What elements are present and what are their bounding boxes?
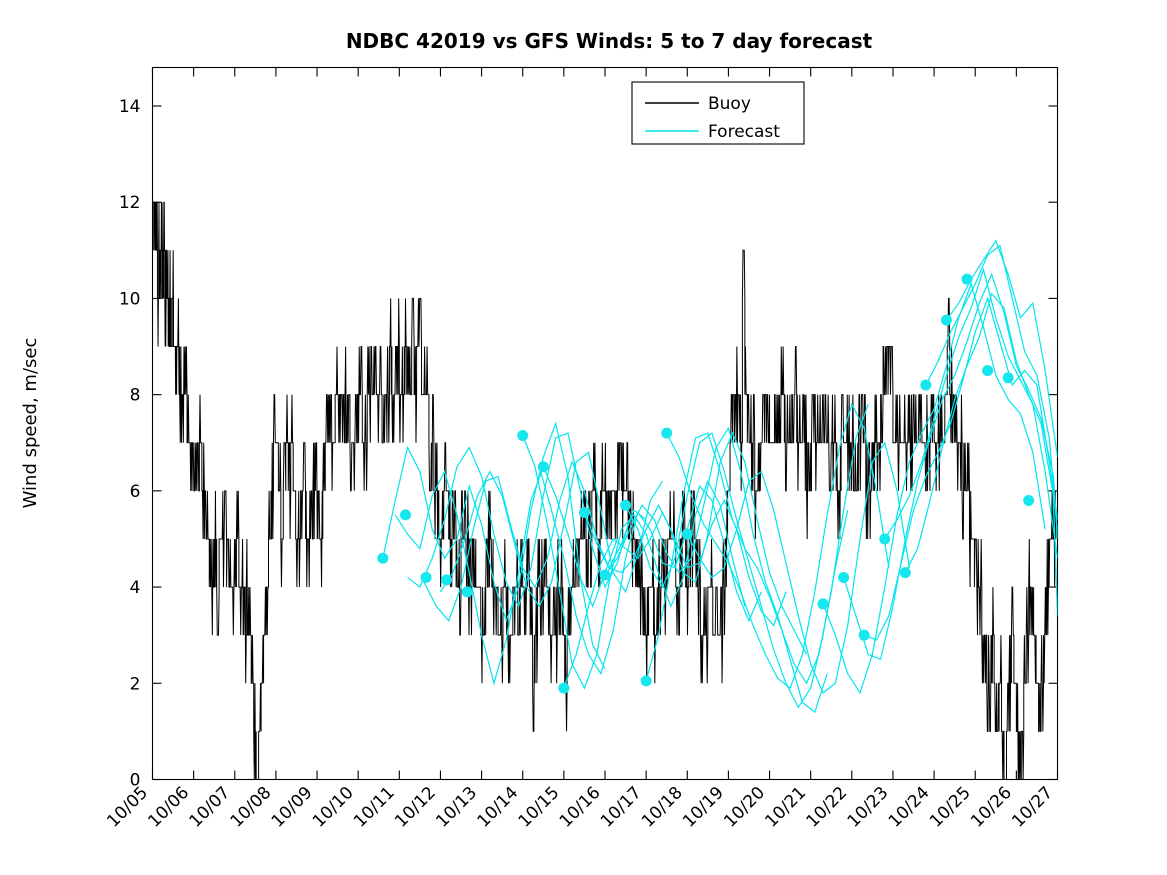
forecast-start-marker xyxy=(982,365,993,376)
forecast-start-marker xyxy=(441,574,452,585)
y-tick-label: 10 xyxy=(119,289,141,309)
forecast-start-marker xyxy=(818,598,829,609)
chart-background xyxy=(0,0,1167,875)
forecast-start-marker xyxy=(900,567,911,578)
forecast-start-marker xyxy=(859,630,870,641)
forecast-start-marker xyxy=(941,315,952,326)
chart-legend: BuoyForecast xyxy=(632,82,804,144)
forecast-start-marker xyxy=(962,274,973,285)
forecast-start-marker xyxy=(1023,495,1034,506)
forecast-start-marker xyxy=(377,553,388,564)
forecast-start-marker xyxy=(1003,372,1014,383)
chart-page: NDBC 42019 vs GFS Winds: 5 to 7 day fore… xyxy=(0,0,1167,875)
forecast-start-marker xyxy=(620,500,631,511)
forecast-start-marker xyxy=(661,428,672,439)
legend-label: Forecast xyxy=(708,122,780,142)
forecast-start-marker xyxy=(600,570,611,581)
forecast-start-marker xyxy=(838,572,849,583)
forecast-start-marker xyxy=(641,675,652,686)
forecast-start-marker xyxy=(682,529,693,540)
y-tick-label: 4 xyxy=(130,578,141,598)
forecast-start-marker xyxy=(462,586,473,597)
forecast-start-marker xyxy=(400,509,411,520)
wind-speed-chart: NDBC 42019 vs GFS Winds: 5 to 7 day fore… xyxy=(0,0,1167,875)
forecast-start-marker xyxy=(421,572,432,583)
y-tick-label: 8 xyxy=(130,386,141,406)
forecast-start-marker xyxy=(579,507,590,518)
y-axis-label: Wind speed, m/sec xyxy=(20,338,41,509)
chart-title: NDBC 42019 vs GFS Winds: 5 to 7 day fore… xyxy=(346,29,873,53)
forecast-start-marker xyxy=(517,430,528,441)
y-tick-label: 2 xyxy=(130,674,141,694)
y-tick-label: 12 xyxy=(119,193,141,213)
y-tick-label: 14 xyxy=(119,97,141,117)
forecast-start-marker xyxy=(558,683,569,694)
y-tick-label: 6 xyxy=(130,482,141,502)
forecast-start-marker xyxy=(879,533,890,544)
forecast-start-marker xyxy=(538,461,549,472)
legend-label: Buoy xyxy=(708,94,751,114)
forecast-start-marker xyxy=(920,380,931,391)
